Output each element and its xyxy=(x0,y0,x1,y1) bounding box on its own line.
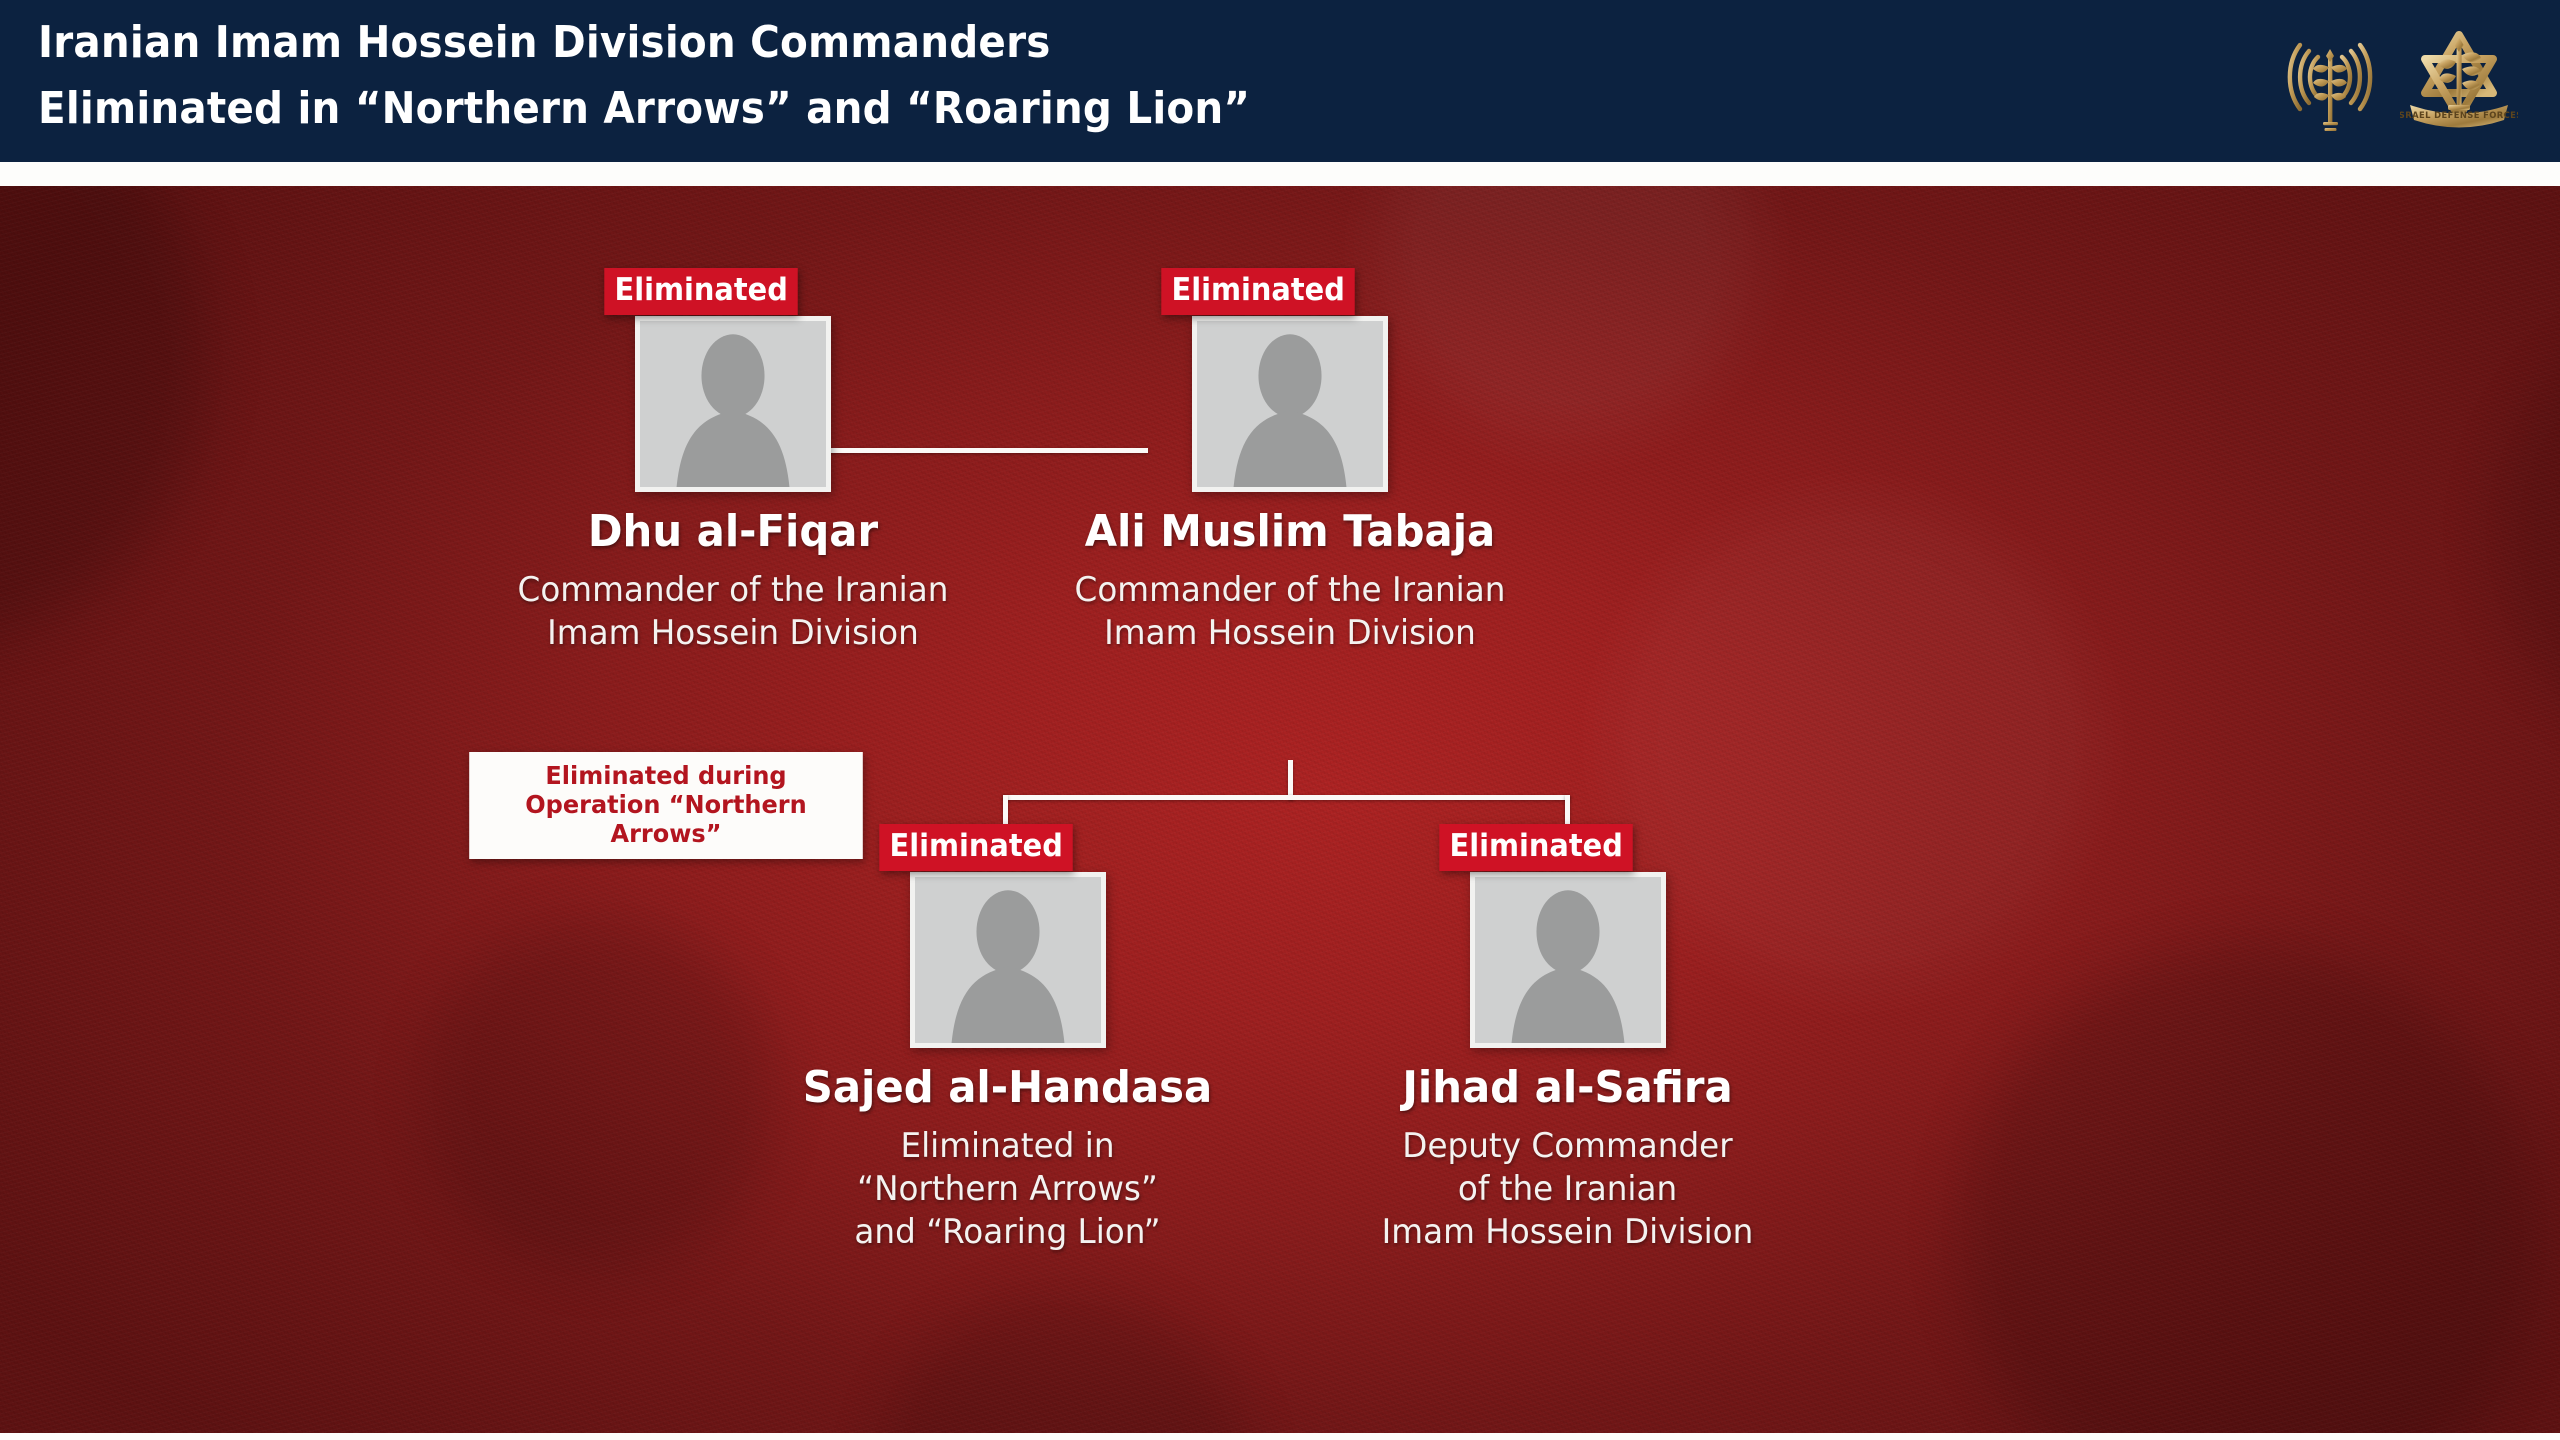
header-divider-strip xyxy=(0,162,2560,186)
person-silhouette-icon xyxy=(915,877,1101,1043)
person-role: Eliminated in “Northern Arrows” and “Roa… xyxy=(693,1125,1322,1254)
portrait-frame: Eliminated xyxy=(1470,872,1666,1048)
person-card-sajed-al-handasa[interactable]: Eliminated Sajed al-Handasa Eliminated i… xyxy=(680,872,1335,1254)
header-logo-group: ISRAEL DEFENSE FORCES xyxy=(2278,14,2518,148)
portrait-frame: Eliminated xyxy=(635,316,831,492)
person-card-jihad-al-safira[interactable]: Eliminated Jihad al-Safira Deputy Comman… xyxy=(1240,872,1895,1254)
connector-stub-vertical xyxy=(1288,760,1293,800)
portrait-frame: Eliminated xyxy=(1192,316,1388,492)
footer-strip xyxy=(0,1433,2560,1440)
person-role: Deputy Commander of the Iranian Imam Hos… xyxy=(1253,1125,1882,1254)
idf-emblem-logo: ISRAEL DEFENSE FORCES xyxy=(2400,21,2518,141)
status-badge: Eliminated xyxy=(1161,268,1355,315)
portrait-placeholder xyxy=(1475,877,1661,1043)
person-card-ali-muslim-tabaja[interactable]: Eliminated Ali Muslim Tabaja Commander o… xyxy=(955,316,1625,655)
portrait-placeholder xyxy=(640,321,826,487)
portrait-frame: Eliminated xyxy=(910,872,1106,1048)
idf-ribbon-text: ISRAEL DEFENSE FORCES xyxy=(2400,110,2518,120)
infographic-slide: Iranian Imam Hossein Division Commanders… xyxy=(0,0,2560,1440)
portrait-placeholder xyxy=(915,877,1101,1043)
page-title: Iranian Imam Hossein Division Commanders… xyxy=(38,10,1786,142)
person-name: Ali Muslim Tabaja xyxy=(972,507,1609,557)
operation-note-box: Eliminated during Operation “Northern Ar… xyxy=(469,752,863,859)
status-badge: Eliminated xyxy=(1439,824,1633,871)
person-role: Commander of the Iranian Imam Hossein Di… xyxy=(968,569,1611,655)
status-badge: Eliminated xyxy=(879,824,1073,871)
person-name: Sajed al-Handasa xyxy=(696,1063,1318,1113)
person-silhouette-icon xyxy=(1197,321,1383,487)
idf-spokesperson-logo xyxy=(2278,23,2382,139)
header-bar: Iranian Imam Hossein Division Commanders… xyxy=(0,0,2560,162)
portrait-placeholder xyxy=(1197,321,1383,487)
person-name: Jihad al-Safira xyxy=(1256,1063,1878,1113)
connector-branch-horizontal xyxy=(1003,795,1570,800)
person-silhouette-icon xyxy=(1475,877,1661,1043)
person-silhouette-icon xyxy=(640,321,826,487)
status-badge: Eliminated xyxy=(604,268,798,315)
